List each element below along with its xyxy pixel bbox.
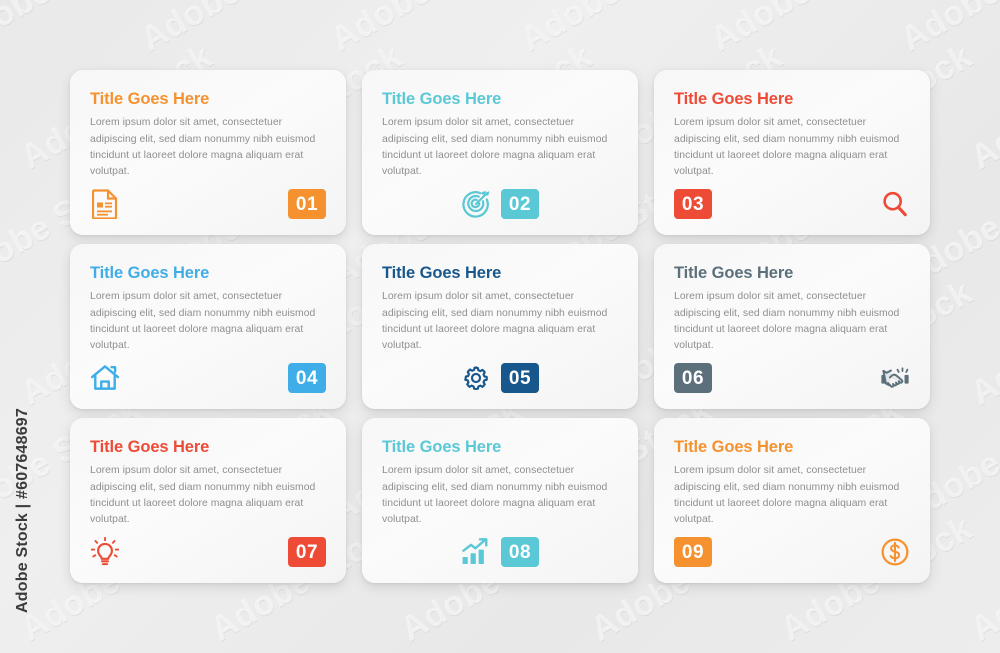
card-footer: 08 — [382, 535, 618, 569]
card-body-text: Lorem ipsum dolor sit amet, consectetuer… — [382, 289, 618, 355]
watermark-text: Adobe Stock — [965, 273, 1000, 413]
search-icon — [880, 189, 910, 219]
card-footer: 01 — [90, 187, 326, 221]
lightbulb-icon — [90, 537, 120, 567]
card-number-badge: 07 — [288, 537, 326, 567]
watermark-text: Adobe Stock — [135, 0, 339, 60]
document-icon — [90, 189, 120, 219]
card-number-badge: 03 — [674, 189, 712, 219]
card-number-badge: 04 — [288, 363, 326, 393]
growth-chart-icon — [461, 537, 491, 567]
card-grid: Title Goes HereLorem ipsum dolor sit ame… — [70, 70, 930, 583]
card-footer: 09 — [674, 535, 910, 569]
card-number-badge: 08 — [501, 537, 539, 567]
info-card[interactable]: Title Goes HereLorem ipsum dolor sit ame… — [362, 244, 638, 409]
card-footer: 07 — [90, 535, 326, 569]
stock-credit-label: Adobe Stock | #607648697 — [14, 408, 32, 613]
card-footer: 05 — [382, 361, 618, 395]
card-body-text: Lorem ipsum dolor sit amet, consectetuer… — [674, 463, 910, 529]
card-title: Title Goes Here — [674, 90, 910, 108]
home-icon — [90, 363, 120, 393]
card-body-text: Lorem ipsum dolor sit amet, consectetuer… — [90, 289, 326, 355]
card-title: Title Goes Here — [382, 264, 618, 282]
watermark-text: Adobe Stock — [0, 0, 149, 60]
card-title: Title Goes Here — [382, 90, 618, 108]
card-title: Title Goes Here — [674, 264, 910, 282]
card-title: Title Goes Here — [90, 90, 326, 108]
target-arrow-icon — [461, 189, 491, 219]
card-body-text: Lorem ipsum dolor sit amet, consectetuer… — [674, 115, 910, 181]
card-footer: 04 — [90, 361, 326, 395]
watermark-text: Adobe Stock — [895, 0, 1000, 60]
card-body-text: Lorem ipsum dolor sit amet, consectetuer… — [90, 115, 326, 181]
watermark-text: Adobe Stock — [515, 0, 719, 60]
watermark-text: Adobe Stock — [965, 509, 1000, 649]
card-title: Title Goes Here — [90, 438, 326, 456]
watermark-text: Adobe Stock — [325, 0, 529, 60]
info-card[interactable]: Title Goes HereLorem ipsum dolor sit ame… — [70, 418, 346, 583]
card-title: Title Goes Here — [674, 438, 910, 456]
card-body-text: Lorem ipsum dolor sit amet, consectetuer… — [90, 463, 326, 529]
watermark-text: Adobe Stock — [965, 37, 1000, 177]
handshake-icon — [880, 363, 910, 393]
info-card[interactable]: Title Goes HereLorem ipsum dolor sit ame… — [70, 244, 346, 409]
card-number-badge: 09 — [674, 537, 712, 567]
card-footer: 02 — [382, 187, 618, 221]
info-card[interactable]: Title Goes HereLorem ipsum dolor sit ame… — [70, 70, 346, 235]
card-title: Title Goes Here — [382, 438, 618, 456]
info-card[interactable]: Title Goes HereLorem ipsum dolor sit ame… — [654, 418, 930, 583]
card-number-badge: 05 — [501, 363, 539, 393]
dollar-coin-icon — [880, 537, 910, 567]
card-footer: 03 — [674, 187, 910, 221]
card-body-text: Lorem ipsum dolor sit amet, consectetuer… — [382, 115, 618, 181]
card-body-text: Lorem ipsum dolor sit amet, consectetuer… — [382, 463, 618, 529]
card-footer: 06 — [674, 361, 910, 395]
gear-icon — [461, 363, 491, 393]
info-card[interactable]: Title Goes HereLorem ipsum dolor sit ame… — [362, 70, 638, 235]
card-number-badge: 01 — [288, 189, 326, 219]
card-number-badge: 06 — [674, 363, 712, 393]
info-card[interactable]: Title Goes HereLorem ipsum dolor sit ame… — [362, 418, 638, 583]
watermark-text: Adobe Stock — [705, 0, 909, 60]
card-body-text: Lorem ipsum dolor sit amet, consectetuer… — [674, 289, 910, 355]
card-number-badge: 02 — [501, 189, 539, 219]
info-card[interactable]: Title Goes HereLorem ipsum dolor sit ame… — [654, 244, 930, 409]
card-title: Title Goes Here — [90, 264, 326, 282]
info-card[interactable]: Title Goes HereLorem ipsum dolor sit ame… — [654, 70, 930, 235]
